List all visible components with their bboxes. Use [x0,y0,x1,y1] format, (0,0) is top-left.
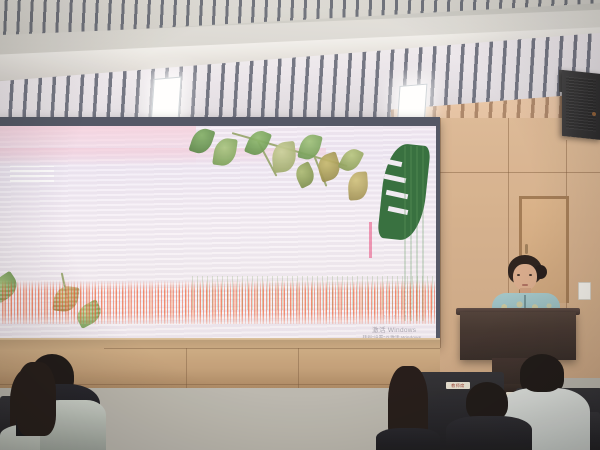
counter-seam-top [104,348,440,349]
slide-glitch-lines [10,166,54,182]
speaker-indicator-icon [592,112,596,116]
wall-seam-horizontal [440,172,600,173]
audience-shoulders-center [446,416,532,450]
projection-screen: 润物细无声，习惯慢生根 初中阶段特殊教育班级常规建立与习惯培养 ● 分享人：杨白… [0,126,436,338]
counter-seam-v2 [298,348,299,388]
presenter-face [513,264,537,291]
presentation-room-photo: 润物细无声，习惯慢生根 初中阶段特殊教育班级常规建立与习惯培养 ● 分享人：杨白… [0,0,600,450]
ceiling [0,0,600,132]
presenter-mouth [522,284,528,286]
watermark-arrows-icon: ↑↑↑ [383,314,415,321]
seat-plate-1: 教师席 [446,382,470,389]
wall-seam-vertical-1 [440,118,441,348]
windows-activation-watermark: 激活 Windows 转到"设置"以激活 Windows。 [362,324,426,338]
glitch-artifact-pink [369,222,372,258]
presenter-eye-left [517,274,520,276]
door-knob[interactable] [525,244,528,254]
presenter-eye-right [529,274,532,276]
speaker-grille [566,76,596,131]
watermark-line-1: 激活 Windows [362,324,426,334]
audience-shoulders-right [376,428,440,450]
light-switch[interactable] [578,282,591,300]
glitch-artifact-secondary [192,276,436,310]
podium [460,312,576,360]
counter-seam-v1 [186,348,187,388]
audience-hair-front-left [16,362,56,436]
audience-hair-white-shirt [520,354,564,392]
